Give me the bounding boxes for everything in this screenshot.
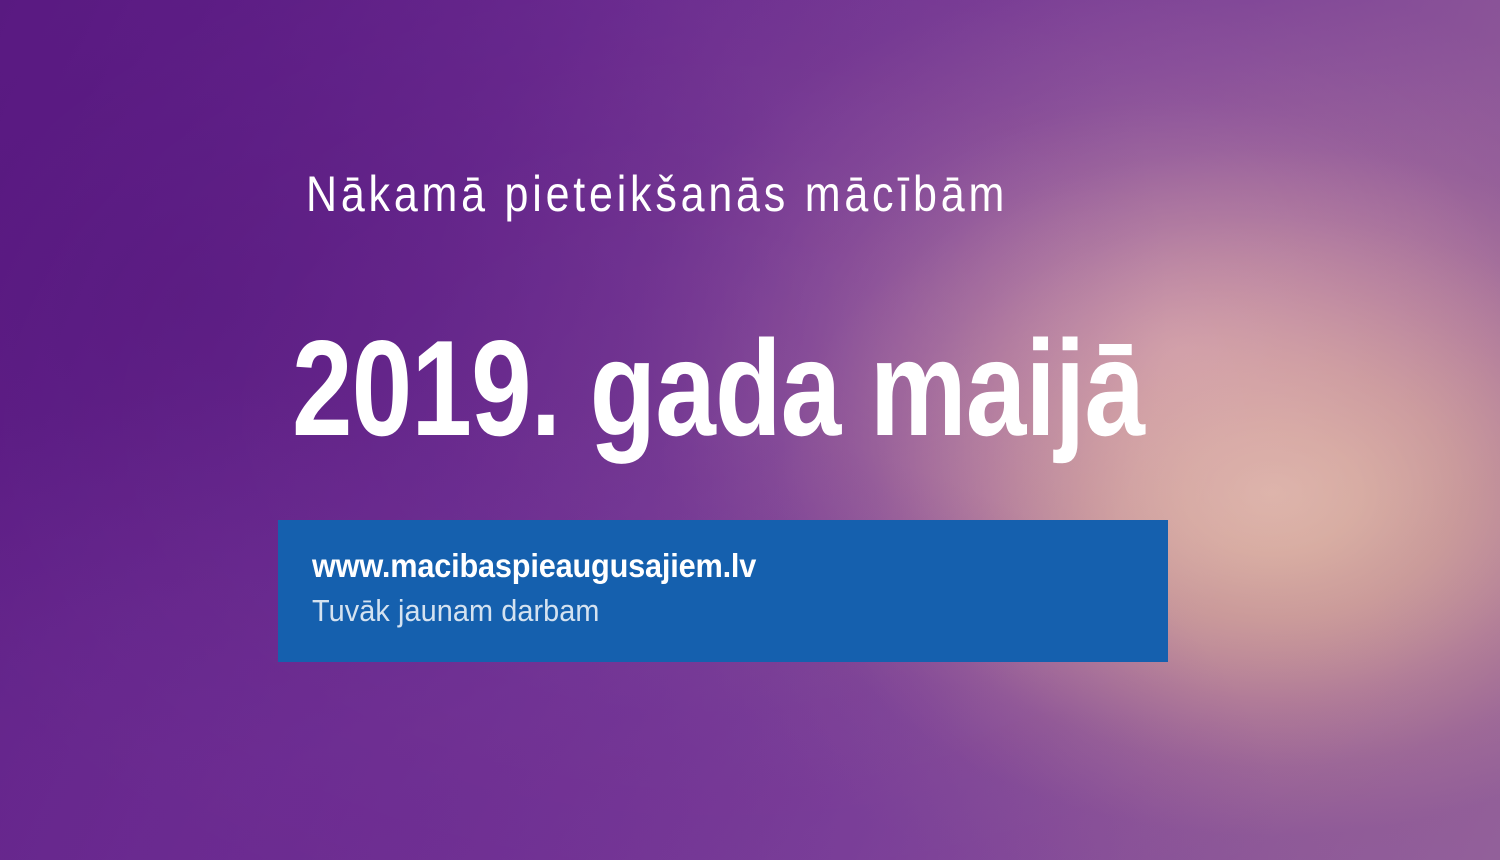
banner-content: Nākamā pieteikšanās mācībām 2019. gada m… [0, 0, 1500, 860]
url-panel[interactable]: www.macibaspieaugusajiem.lv Tuvāk jaunam… [278, 520, 1168, 662]
banner-headline: 2019. gada maijā [292, 320, 1144, 456]
website-tagline: Tuvāk jaunam darbam [312, 594, 1108, 629]
banner-kicker: Nākamā pieteikšanās mācībām [306, 168, 1008, 221]
website-url[interactable]: www.macibaspieaugusajiem.lv [312, 548, 1108, 585]
promo-banner: Nākamā pieteikšanās mācībām 2019. gada m… [0, 0, 1500, 860]
